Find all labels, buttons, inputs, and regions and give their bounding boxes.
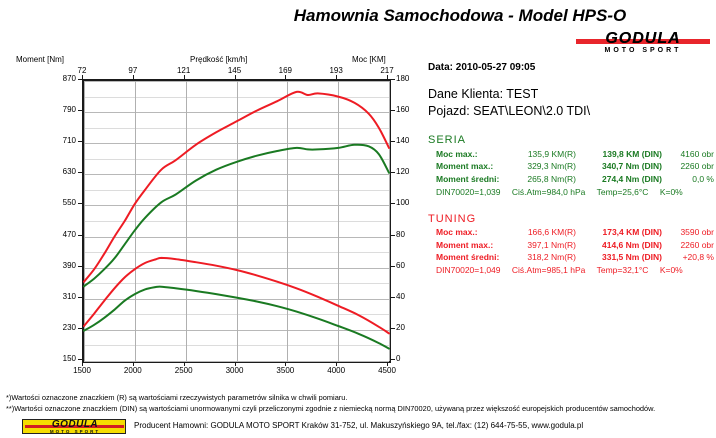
tick-mark — [184, 362, 185, 366]
right-tick-140: 140 — [396, 136, 426, 145]
tick-mark — [336, 75, 337, 79]
tick-mark — [82, 362, 83, 366]
footer-logo: GODULA MOTO SPORT — [22, 419, 126, 434]
logo-tagline: MOTO SPORT — [574, 47, 712, 54]
bottom-tick-3500: 3500 — [265, 366, 305, 375]
tick-mark — [390, 203, 395, 204]
top-tick-169: 169 — [265, 66, 305, 75]
tick-mark — [390, 266, 395, 267]
plot-area — [82, 79, 391, 363]
tick-mark — [235, 362, 236, 366]
top-tick-97: 97 — [113, 66, 153, 75]
tuning-title: TUNING — [428, 213, 714, 225]
seria-din: 274,4 Nm (DIN) — [576, 174, 662, 184]
right-tick-160: 160 — [396, 105, 426, 114]
tick-mark — [78, 235, 82, 236]
brand-logo: GODULA MOTO SPORT — [574, 30, 712, 58]
bottom-tick-2500: 2500 — [164, 366, 204, 375]
seria-din-factor: DIN70020=1,039 — [436, 187, 501, 197]
tick-mark — [390, 79, 395, 80]
tuning-k: K=0% — [660, 265, 683, 275]
tick-mark — [285, 362, 286, 366]
tick-mark — [133, 362, 134, 366]
tuning-din-factor: DIN70020=1,049 — [436, 265, 501, 275]
right-tick-180: 180 — [396, 74, 426, 83]
tick-mark — [78, 203, 82, 204]
tick-mark — [390, 359, 395, 360]
tick-mark — [336, 362, 337, 366]
seria-title: SERIA — [428, 134, 714, 146]
tuning-din: 173,4 KM (DIN) — [576, 227, 662, 237]
left-tick-710: 710 — [46, 136, 76, 145]
tuning-din: 414,6 Nm (DIN) — [576, 240, 662, 250]
seria-rpm: 0,0 % — [662, 174, 714, 184]
tick-mark — [285, 75, 286, 79]
tuning-label: Moment max.: — [428, 240, 510, 250]
bottom-tick-3000: 3000 — [215, 366, 255, 375]
left-tick-470: 470 — [46, 230, 76, 239]
tuning-conditions: DIN70020=1,049 Ciś.Atm=985,1 hPa Temp=32… — [428, 265, 714, 275]
seria-row: Moc max.:135,9 KM(R)139,8 KM (DIN)4160 o… — [428, 149, 714, 159]
tick-mark — [78, 172, 82, 173]
footer-manufacturer-text: Producent Hamowni: GODULA MOTO SPORT Kra… — [134, 421, 583, 430]
top-axis-title: Prędkość [km/h] — [190, 55, 247, 64]
right-tick-20: 20 — [396, 323, 426, 332]
bottom-tick-4000: 4000 — [316, 366, 356, 375]
vehicle-line: Pojazd: SEAT\LEON\2.0 TDI\ — [428, 104, 714, 118]
tuning-din: 331,5 Nm (DIN) — [576, 252, 662, 262]
right-tick-120: 120 — [396, 167, 426, 176]
left-tick-150: 150 — [46, 354, 76, 363]
tuning-label: Moc max.: — [428, 227, 510, 237]
top-tick-193: 193 — [316, 66, 356, 75]
left-tick-550: 550 — [46, 198, 76, 207]
tuning-rows: Moc max.:166,6 KM(R)173,4 KM (DIN)3590 o… — [428, 227, 714, 262]
tuning-label: Moment średni: — [428, 252, 510, 262]
footnotes: *)Wartości oznaczone znaczkiem (R) są wa… — [6, 392, 712, 414]
tick-mark — [390, 297, 395, 298]
left-tick-310: 310 — [46, 292, 76, 301]
tick-mark — [184, 75, 185, 79]
right-tick-80: 80 — [396, 230, 426, 239]
tuning-row: Moment średni:318,2 Nm(R)331,5 Nm (DIN)+… — [428, 252, 714, 262]
tick-mark — [390, 141, 395, 142]
curve-layer — [84, 81, 389, 361]
seria-pressure: Ciś.Atm=984,0 hPa — [512, 187, 585, 197]
bottom-tick-1500: 1500 — [62, 366, 102, 375]
left-tick-630: 630 — [46, 167, 76, 176]
footnote-din: **)Wartości oznaczone znaczkiem (DIN) są… — [6, 403, 712, 414]
gridline-v — [389, 81, 390, 361]
seria-din: 139,8 KM (DIN) — [576, 149, 662, 159]
tuning-real: 166,6 KM(R) — [510, 227, 576, 237]
tuning-rpm: +20,8 % — [662, 252, 714, 262]
tuning-temp: Temp=32,1°C — [597, 265, 649, 275]
tick-mark — [235, 75, 236, 79]
tick-mark — [390, 172, 395, 173]
tick-mark — [390, 235, 395, 236]
footer-logo-tagline: MOTO SPORT — [23, 429, 126, 434]
tick-mark — [78, 110, 82, 111]
curve-seria-moc — [84, 145, 389, 287]
curve-seria-moment — [84, 287, 389, 349]
seria-rows: Moc max.:135,9 KM(R)139,8 KM (DIN)4160 o… — [428, 149, 714, 184]
seria-row: Moment max.:329,3 Nm(R)340,7 Nm (DIN)226… — [428, 161, 714, 171]
left-tick-870: 870 — [46, 74, 76, 83]
tick-mark — [78, 359, 82, 360]
seria-label: Moment max.: — [428, 161, 510, 171]
left-tick-230: 230 — [46, 323, 76, 332]
tick-mark — [78, 297, 82, 298]
bottom-tick-2000: 2000 — [113, 366, 153, 375]
top-tick-217: 217 — [367, 66, 407, 75]
tick-mark — [78, 328, 82, 329]
right-tick-100: 100 — [396, 198, 426, 207]
tuning-real: 318,2 Nm(R) — [510, 252, 576, 262]
seria-k: K=0% — [660, 187, 683, 197]
tick-mark — [387, 362, 388, 366]
tuning-row: Moment max.:397,1 Nm(R)414,6 Nm (DIN)226… — [428, 240, 714, 250]
top-tick-121: 121 — [164, 66, 204, 75]
tick-mark — [82, 75, 83, 79]
tuning-result-block: TUNING Moc max.:166,6 KM(R)173,4 KM (DIN… — [428, 213, 714, 276]
dyno-report-page: Hamownia Samochodowa - Model HPS-O GODUL… — [0, 0, 716, 438]
top-tick-72: 72 — [62, 66, 102, 75]
seria-result-block: SERIA Moc max.:135,9 KM(R)139,8 KM (DIN)… — [428, 134, 714, 197]
tuning-row: Moc max.:166,6 KM(R)173,4 KM (DIN)3590 o… — [428, 227, 714, 237]
gridline-h — [84, 361, 389, 362]
seria-label: Moc max.: — [428, 149, 510, 159]
client-line: Dane Klienta: TEST — [428, 87, 714, 101]
right-tick-40: 40 — [396, 292, 426, 301]
measurement-info-panel: Data: 2010-05-27 09:05 Dane Klienta: TES… — [428, 62, 714, 275]
seria-conditions: DIN70020=1,039 Ciś.Atm=984,0 hPa Temp=25… — [428, 187, 714, 197]
tick-mark — [78, 79, 82, 80]
tick-mark — [133, 75, 134, 79]
tick-mark — [390, 110, 395, 111]
tuning-rpm: 3590 obr — [662, 227, 714, 237]
dyno-chart: Moment [Nm] Prędkość [km/h] Moc [KM] Obr… — [0, 55, 420, 360]
tuning-rpm: 2260 obr — [662, 240, 714, 250]
seria-real: 329,3 Nm(R) — [510, 161, 576, 171]
curve-tuning-moment — [84, 258, 389, 334]
seria-real: 265,8 Nm(R) — [510, 174, 576, 184]
logo-wordmark: GODULA — [574, 30, 712, 48]
seria-rpm: 2260 obr — [662, 161, 714, 171]
tick-mark — [387, 75, 388, 79]
tuning-pressure: Ciś.Atm=985,1 hPa — [512, 265, 585, 275]
right-tick-0: 0 — [396, 354, 426, 363]
footer-bar: GODULA MOTO SPORT Producent Hamowni: GOD… — [22, 419, 712, 435]
right-axis-title: Moc [KM] — [352, 55, 386, 64]
left-tick-790: 790 — [46, 105, 76, 114]
bottom-tick-4500: 4500 — [367, 366, 407, 375]
seria-label: Moment średni: — [428, 174, 510, 184]
tuning-real: 397,1 Nm(R) — [510, 240, 576, 250]
tick-mark — [78, 266, 82, 267]
curve-tuning-moc — [84, 92, 389, 282]
top-tick-145: 145 — [215, 66, 255, 75]
seria-row: Moment średni:265,8 Nm(R)274,4 Nm (DIN)0… — [428, 174, 714, 184]
left-axis-title: Moment [Nm] — [16, 55, 64, 64]
left-tick-390: 390 — [46, 261, 76, 270]
seria-real: 135,9 KM(R) — [510, 149, 576, 159]
tick-mark — [78, 141, 82, 142]
page-title: Hamownia Samochodowa - Model HPS-O — [250, 6, 670, 26]
right-tick-60: 60 — [396, 261, 426, 270]
seria-din: 340,7 Nm (DIN) — [576, 161, 662, 171]
footnote-r: *)Wartości oznaczone znaczkiem (R) są wa… — [6, 392, 712, 403]
seria-temp: Temp=25,6°C — [597, 187, 649, 197]
seria-rpm: 4160 obr — [662, 149, 714, 159]
date-line: Data: 2010-05-27 09:05 — [428, 62, 714, 73]
tick-mark — [390, 328, 395, 329]
